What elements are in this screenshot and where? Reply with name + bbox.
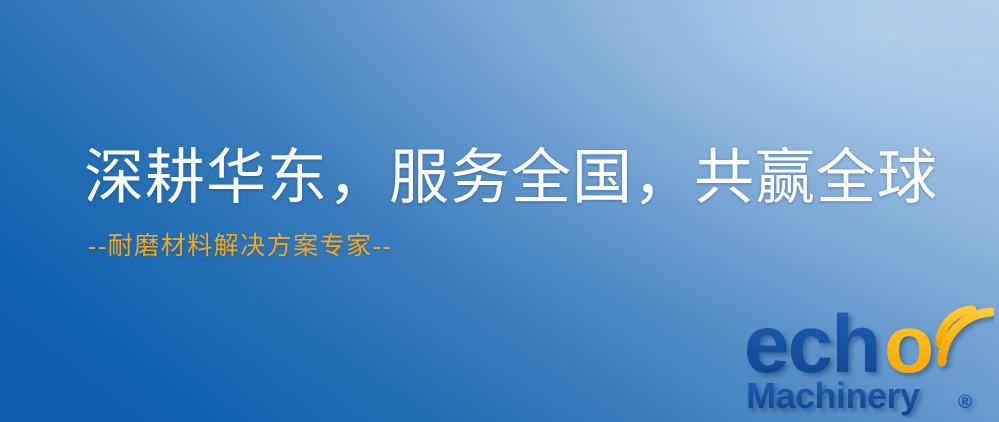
logo-tagline: Machinery bbox=[746, 375, 920, 416]
signal-wave-icon bbox=[940, 310, 991, 362]
banner-subheadline: --耐磨材料解决方案专家-- bbox=[88, 233, 944, 261]
banner-headline: 深耕华东，服务全国，共赢全球 bbox=[84, 146, 944, 211]
logo-registered-mark: ® bbox=[958, 392, 972, 413]
echo-machinery-logo[interactable]: ech o Machinery ® bbox=[744, 296, 994, 418]
headline-block: 深耕华东，服务全国，共赢全球 --耐磨材料解决方案专家-- bbox=[84, 146, 944, 260]
hero-banner: 深耕华东，服务全国，共赢全球 --耐磨材料解决方案专家-- bbox=[0, 0, 999, 422]
